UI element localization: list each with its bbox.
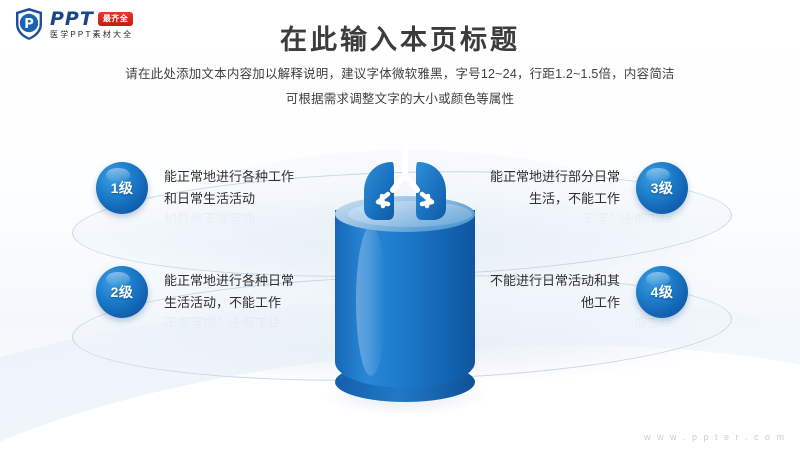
level-text-3-line-2: 生活，不能工作: [490, 188, 620, 210]
level-node-1[interactable]: 1级 能正常地进行各种工作 和日常生活活动: [96, 162, 294, 214]
page-subtitle-line-1: 请在此处添加文本内容加以解释说明，建议字体微软雅黑，字号12~24，行距1.2~…: [0, 63, 800, 82]
level-text-4-line-2: 他工作: [490, 292, 620, 314]
level-badge-2[interactable]: 2级: [96, 266, 148, 318]
level-text-2: 能正常地进行各种日常 生活活动，不能工作: [164, 270, 294, 314]
level-text-4: 不能进行日常活动和其 他工作: [490, 270, 620, 314]
level-text-1-line-2: 和日常生活活动: [164, 188, 294, 210]
level-node-3[interactable]: 能正常地进行部分日常 生活，不能工作 3级: [490, 162, 688, 214]
level-text-4-line-1: 不能进行日常活动和其: [490, 270, 620, 292]
slide-canvas: P PPT 最齐全 医学PPT素材大全 在此输入本页标题 请在此处添加文本内容加…: [0, 0, 800, 450]
level-node-4[interactable]: 不能进行日常活动和其 他工作 4级: [490, 266, 688, 318]
level-badge-2-label: 2级: [111, 282, 134, 302]
level-text-3-line-1: 能正常地进行部分日常: [490, 166, 620, 188]
level-text-2-line-1: 能正常地进行各种日常: [164, 270, 294, 292]
page-title: 在此输入本页标题: [0, 18, 800, 57]
center-cylinder: [330, 196, 480, 401]
level-text-1-line-1: 能正常地进行各种工作: [164, 166, 294, 188]
level-text-1: 能正常地进行各种工作 和日常生活活动: [164, 166, 294, 210]
page-subtitle-line-2: 可根据需求调整文字的大小或颜色等属性: [0, 88, 800, 107]
level-badge-4[interactable]: 4级: [636, 266, 688, 318]
level-text-2-line-2: 生活活动，不能工作: [164, 292, 294, 314]
level-badge-3-label: 3级: [651, 178, 674, 198]
level-node-2[interactable]: 2级 能正常地进行各种日常 生活活动，不能工作: [96, 266, 294, 318]
level-badge-1-label: 1级: [111, 178, 134, 198]
cylinder-highlight: [356, 226, 386, 376]
level-text-3: 能正常地进行部分日常 生活，不能工作: [490, 166, 620, 210]
level-badge-3[interactable]: 3级: [636, 162, 688, 214]
level-badge-4-label: 4级: [651, 282, 674, 302]
lungs-icon: [352, 146, 458, 224]
level-badge-1[interactable]: 1级: [96, 162, 148, 214]
site-watermark: w w w . p p t e r . c o m: [644, 432, 786, 442]
